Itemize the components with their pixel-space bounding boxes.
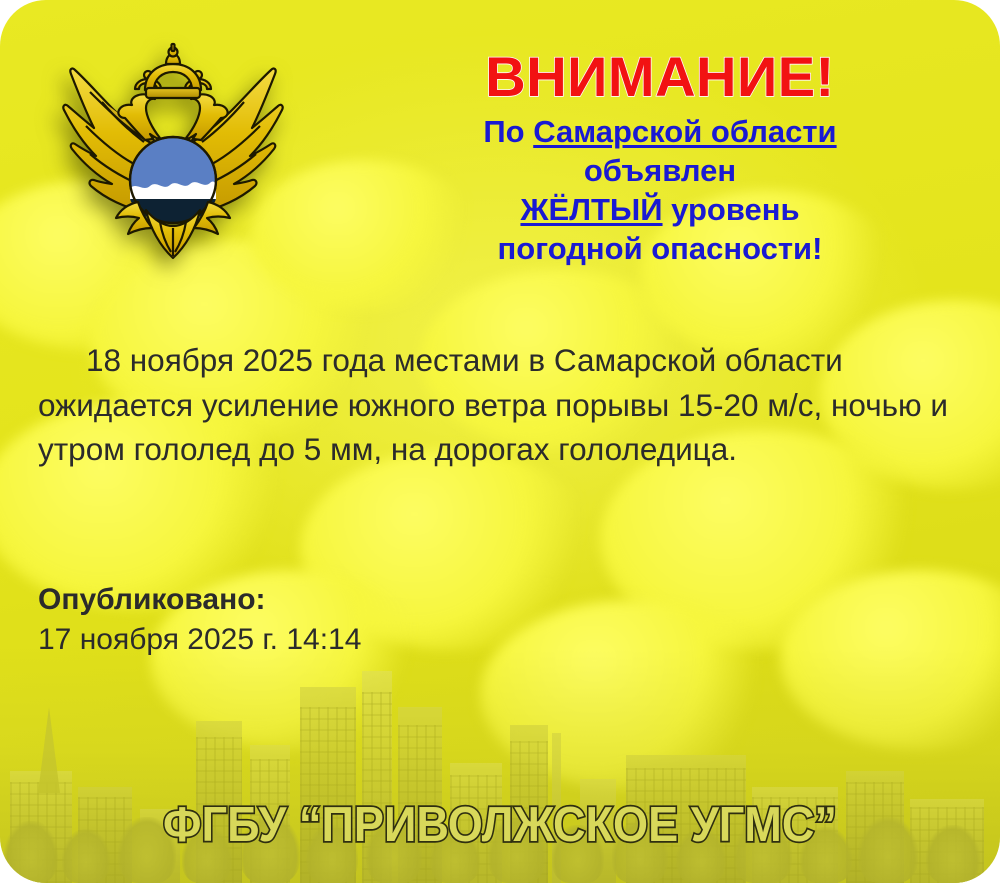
published-label: Опубликовано: [38,580,638,620]
weather-warning-card: ВНИМАНИЕ! По Самарской области объявлен … [0,0,1000,883]
roshydromet-eagle-emblem [42,42,304,282]
warning-subheading: По Самарской области объявлен ЖЁЛТЫЙ уро… [360,112,960,268]
subheading-line-4: погодной опасности! [360,229,960,268]
organization-banner: ФГБУ “ПРИВОЛЖСКОЕ УГМС” [40,797,960,853]
attention-heading: ВНИМАНИЕ! [360,48,960,106]
published-date: 17 ноября 2025 г. 14:14 [38,620,638,660]
subheading-line-1: По Самарской области [360,112,960,151]
published-block: Опубликовано: 17 ноября 2025 г. 14:14 [38,580,638,659]
header-block: ВНИМАНИЕ! По Самарской области объявлен … [360,48,960,268]
subheading-line-2: объявлен [360,151,960,190]
region-name: Самарской области [533,114,836,149]
warning-body-text: 18 ноября 2025 года местами в Самарской … [38,338,954,472]
line1-prefix: По [483,114,533,149]
line3-suffix: уровень [663,192,800,227]
danger-level: ЖЁЛТЫЙ [520,192,662,227]
subheading-line-3: ЖЁЛТЫЙ уровень [360,190,960,229]
